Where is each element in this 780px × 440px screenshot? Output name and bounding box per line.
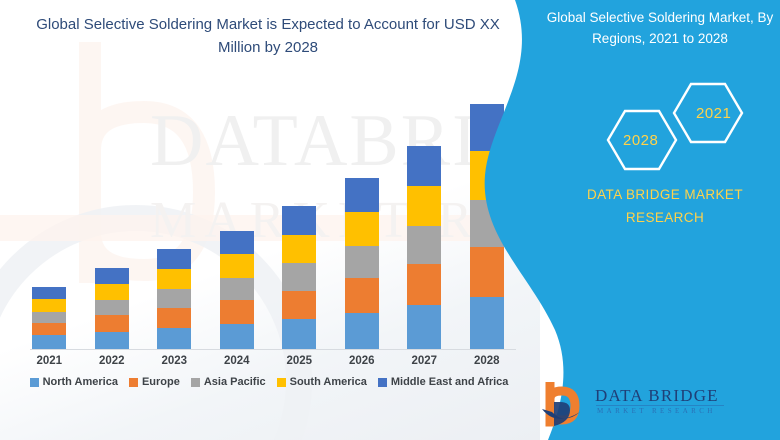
bar-segment[interactable]	[407, 146, 441, 186]
bar-segment[interactable]	[95, 315, 129, 331]
bar-segment[interactable]	[282, 319, 316, 349]
legend-swatch	[277, 378, 286, 387]
legend-swatch	[129, 378, 138, 387]
x-axis-tick-label: 2025	[268, 355, 331, 367]
bar-segment[interactable]	[157, 308, 191, 328]
legend-swatch	[191, 378, 200, 387]
bar-segment[interactable]	[345, 212, 379, 246]
chart-legend: North AmericaEuropeAsia PacificSouth Ame…	[14, 376, 524, 388]
hexagon-badges: 2028 2021	[595, 80, 775, 175]
logo-subwordmark: MARKET RESEARCH	[597, 407, 716, 415]
legend-label: South America	[290, 376, 367, 388]
legend-swatch	[30, 378, 39, 387]
logo-divider	[596, 405, 724, 406]
brand-line-2: RESEARCH	[626, 210, 704, 225]
bar-segment[interactable]	[157, 289, 191, 308]
bar-segment[interactable]	[32, 335, 66, 349]
infographic-root: DATABRIDGE MARKET RESEARCH Global Select…	[0, 0, 780, 440]
bar-segment[interactable]	[157, 328, 191, 349]
bar-segment[interactable]	[345, 246, 379, 278]
bar-slot	[143, 100, 206, 349]
bar-slot	[81, 100, 144, 349]
data-bridge-b-mark-icon	[540, 382, 590, 428]
bar-segment[interactable]	[345, 313, 379, 349]
legend-item[interactable]: Europe	[129, 376, 180, 388]
bar-segment[interactable]	[220, 278, 254, 300]
legend-swatch	[378, 378, 387, 387]
x-axis-tick-label: 2022	[81, 355, 144, 367]
bar-segment[interactable]	[345, 178, 379, 212]
panel-heading: Global Selective Soldering Market, By Re…	[540, 8, 780, 50]
bar-segment[interactable]	[407, 226, 441, 265]
x-axis-tick-label: 2021	[18, 355, 81, 367]
bar-segment[interactable]	[282, 291, 316, 320]
legend-label: North America	[43, 376, 118, 388]
bar-slot	[393, 100, 456, 349]
bar-slot	[18, 100, 81, 349]
bar-segment[interactable]	[407, 186, 441, 226]
bar-segment[interactable]	[95, 284, 129, 300]
x-axis-tick-label: 2027	[393, 355, 456, 367]
chart-plot-area	[18, 100, 518, 350]
hexagon-left-label: 2028	[623, 132, 658, 149]
bar-segment[interactable]	[407, 305, 441, 349]
bar-segment[interactable]	[220, 231, 254, 255]
bar-segment[interactable]	[32, 287, 66, 299]
company-logo: DATA BRIDGE MARKET RESEARCH	[540, 382, 740, 430]
stacked-bar[interactable]	[282, 206, 316, 349]
bar-segment[interactable]	[220, 324, 254, 349]
legend-label: Europe	[142, 376, 180, 388]
stacked-bar[interactable]	[157, 249, 191, 349]
hexagon-outlines-icon	[595, 80, 775, 175]
brand-name-text: DATA BRIDGE MARKET RESEARCH	[560, 184, 770, 230]
bar-slot	[206, 100, 269, 349]
stacked-bar[interactable]	[345, 178, 379, 349]
bar-segment[interactable]	[345, 278, 379, 313]
bar-slot	[331, 100, 394, 349]
bar-segment[interactable]	[32, 312, 66, 323]
page-title: Global Selective Soldering Market is Exp…	[28, 14, 508, 59]
stacked-bar[interactable]	[95, 268, 129, 349]
bar-segment[interactable]	[32, 323, 66, 335]
bar-segment[interactable]	[220, 254, 254, 278]
bar-slot	[268, 100, 331, 349]
bar-segment[interactable]	[95, 300, 129, 315]
stacked-bar[interactable]	[32, 287, 66, 349]
stacked-bar[interactable]	[220, 231, 254, 349]
legend-label: Asia Pacific	[204, 376, 266, 388]
logo-wordmark: DATA BRIDGE	[595, 386, 719, 406]
bar-segment[interactable]	[407, 264, 441, 305]
bar-segment[interactable]	[220, 300, 254, 324]
x-axis-tick-label: 2024	[206, 355, 269, 367]
bar-segment[interactable]	[282, 206, 316, 235]
bar-segment[interactable]	[157, 249, 191, 269]
x-axis-labels: 20212022202320242025202620272028	[18, 355, 518, 367]
bar-segment[interactable]	[95, 268, 129, 284]
bar-segment[interactable]	[95, 332, 129, 349]
x-axis-tick-label: 2026	[331, 355, 394, 367]
x-axis-tick-label: 2023	[143, 355, 206, 367]
bar-group	[18, 100, 518, 349]
bar-segment[interactable]	[282, 263, 316, 290]
stacked-bar[interactable]	[407, 146, 441, 349]
legend-item[interactable]: Asia Pacific	[191, 376, 266, 388]
x-axis-line	[30, 349, 516, 350]
legend-item[interactable]: North America	[30, 376, 118, 388]
brand-line-1: DATA BRIDGE MARKET	[587, 187, 743, 202]
bar-segment[interactable]	[282, 235, 316, 264]
hexagon-right-label: 2021	[696, 105, 731, 122]
bar-segment[interactable]	[32, 299, 66, 311]
legend-item[interactable]: South America	[277, 376, 367, 388]
bar-segment[interactable]	[157, 269, 191, 289]
